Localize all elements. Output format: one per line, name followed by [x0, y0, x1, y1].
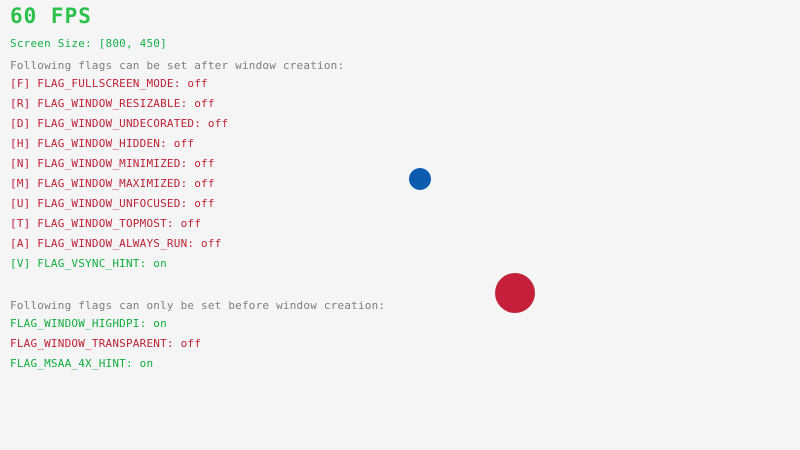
flag-flag-fullscreen-mode[interactable]: [F] FLAG_FULLSCREEN_MODE: off [10, 78, 208, 89]
flag-flag-window-unfocused[interactable]: [U] FLAG_WINDOW_UNFOCUSED: off [10, 198, 215, 209]
red-ball-shape [495, 273, 535, 313]
flag-flag-window-topmost[interactable]: [T] FLAG_WINDOW_TOPMOST: off [10, 218, 201, 229]
flag-flag-window-minimized[interactable]: [N] FLAG_WINDOW_MINIMIZED: off [10, 158, 215, 169]
blue-ball-shape [409, 168, 431, 190]
flag-flag-window-maximized[interactable]: [M] FLAG_WINDOW_MAXIMIZED: off [10, 178, 215, 189]
flag-flag-window-resizable[interactable]: [R] FLAG_WINDOW_RESIZABLE: off [10, 98, 215, 109]
flag-flag-window-highdpi[interactable]: FLAG_WINDOW_HIGHDPI: on [10, 318, 167, 329]
flag-flag-window-undecorated[interactable]: [D] FLAG_WINDOW_UNDECORATED: off [10, 118, 228, 129]
screen-size-label: Screen Size: [800, 450] [10, 38, 167, 49]
flag-flag-window-hidden[interactable]: [H] FLAG_WINDOW_HIDDEN: off [10, 138, 194, 149]
flag-flag-msaa-4x-hint[interactable]: FLAG_MSAA_4X_HINT: on [10, 358, 153, 369]
flag-flag-window-always-run[interactable]: [A] FLAG_WINDOW_ALWAYS_RUN: off [10, 238, 222, 249]
runtime-flags-heading: Following flags can be set after window … [10, 60, 344, 71]
flag-flag-vsync-hint[interactable]: [V] FLAG_VSYNC_HINT: on [10, 258, 167, 269]
startup-flags-heading: Following flags can only be set before w… [10, 300, 385, 311]
raylib-window-canvas[interactable]: 60 FPS Screen Size: [800, 450] Following… [0, 0, 800, 450]
flag-flag-window-transparent[interactable]: FLAG_WINDOW_TRANSPARENT: off [10, 338, 201, 349]
fps-counter: 60 FPS [10, 6, 92, 27]
